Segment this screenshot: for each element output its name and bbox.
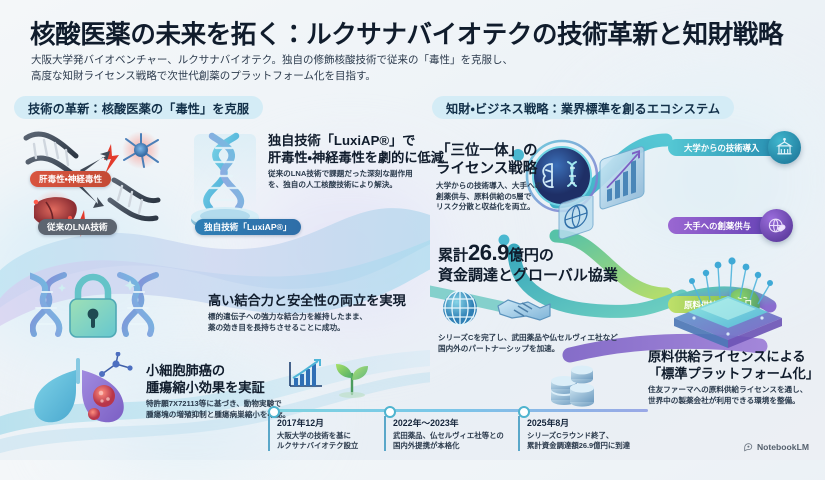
right-block-3-heading-line-2: 「標準プラットフォーム化」 (648, 365, 825, 382)
left-block-3-body-line-1: 特許願7X72113等に基づき、動物実験で (146, 399, 306, 410)
funding-heading-prefix: 累計 (438, 247, 468, 264)
left-block-2-body-line-1: 標的遺伝子への強力な結合力を維持したまま、 (208, 312, 423, 323)
timeline-desc-line-2: ルクサナバイオテク設立 (277, 441, 358, 451)
funding-amount: 26.9 (468, 240, 509, 265)
timeline-axis (268, 409, 648, 412)
ecosystem-node-materials[interactable]: 原料供給 (668, 288, 760, 321)
page-subtitle: 大阪大学発バイオベンチャー、ルクサナバイオテク。独自の修飾核酸技術で従来の「毒性… (31, 53, 591, 84)
seedling-icon (330, 358, 374, 398)
timeline-desc: シリーズCラウンド終了、 累計資金調達額26.9億円に到達 (527, 431, 630, 451)
globe-network-icon (438, 288, 488, 328)
right-block-1-body-line-1: 大学からの技術導入、大手への (436, 181, 554, 192)
left-block-1-heading-line-2: 肝毒性・神経毒性を劇的に低減 (268, 149, 438, 166)
left-panel-header: 技術の革新：核酸医薬の「毒性」を克服 (14, 96, 263, 119)
timeline-date: 2025年8月 (527, 416, 630, 429)
right-block-3-body: 住友ファーマへの原料供給ライセンスを通し、 世界中の製薬会社が利用できる環境を整… (648, 385, 825, 406)
timeline-desc-line-1: 武田薬品、仏セルヴィエ社等との (393, 431, 504, 441)
globe-pill-icon (760, 209, 793, 242)
left-block-1-body-line-1: 従来のLNA技術で課題だった深刻な副作用 (268, 169, 438, 180)
left-block-1-body: 従来のLNA技術で課題だった深刻な副作用 を、独自の人工核酸技術により解決。 (268, 169, 438, 190)
right-block-1-body-line-2: 創薬供与、原料供給の5層で (436, 192, 554, 203)
timeline-item-2025: 2025年8月 シリーズCラウンド終了、 累計資金調達額26.9億円に到達 (518, 416, 630, 451)
decorative-blob (0, 180, 220, 370)
toxicity-badge: 肝毒性・神経毒性 (30, 171, 111, 187)
left-block-2-heading: 高い結合力と安全性の両立を実現 (208, 292, 423, 309)
factory-icon (727, 288, 760, 321)
right-block-3-body-line-1: 住友ファーマへの原料供給ライセンスを通し、 (648, 385, 825, 396)
university-icon (768, 131, 801, 164)
infographic-canvas: 核酸医薬の未来を拓く：ルクサナバイオテクの技術革新と知財戦略 大阪大学発バイオベ… (0, 0, 825, 460)
footer-attribution: NotebookLM (743, 442, 809, 452)
right-block-1-heading-line-1: 「三位一体」の (436, 142, 554, 160)
right-block-2-heading-line-1: 累計26.9億円の (438, 243, 678, 266)
right-block-1-text: 「三位一体」の ライセンス戦略 大学からの技術導入、大手への 創薬供与、原料供給… (436, 142, 554, 213)
left-block-3-heading-line-1: 小細胞肺癌の (146, 362, 306, 379)
left-block-1-heading-line-1: 独自技術「LuxiAP®」で (268, 132, 438, 149)
footer-label: NotebookLM (757, 442, 809, 452)
ecosystem-node-materials-label: 原料供給 (668, 296, 730, 313)
subtitle-line-1: 大阪大学発バイオベンチャー、ルクサナバイオテク。独自の修飾核酸技術で従来の「毒性… (31, 53, 591, 69)
right-block-3-body-line-2: 世界中の製薬会社が利用できる環境を整備。 (648, 396, 825, 407)
left-block-2-body-line-2: 薬の効き目を長持ちさせることに成功。 (208, 323, 423, 334)
ecosystem-node-pharma-label: 大手への創薬供与 (668, 217, 763, 234)
left-block-2-body: 標的遺伝子への強力な結合力を維持したまま、 薬の効き目を長持ちさせることに成功。 (208, 312, 423, 333)
ecosystem-node-university[interactable]: 大学からの技術導入 (668, 131, 801, 164)
coin-stack-icon (548, 358, 600, 410)
page-title: 核酸医薬の未来を拓く：ルクサナバイオテクの技術革新と知財戦略 (30, 14, 800, 51)
ecosystem-node-pharma[interactable]: 大手への創薬供与 (668, 209, 793, 242)
right-block-3-heading-line-1: 原料供給ライセンスによる (648, 348, 825, 365)
luxiap-caption: 独自技術「LuxiAP®」 (195, 219, 301, 235)
timeline-item-2017: 2017年12月 大阪大学の技術を基に ルクサナバイオテク設立 (268, 416, 358, 451)
timeline-desc: 武田薬品、仏セルヴィエ社等との 国内外提携が本格化 (393, 431, 504, 451)
timeline-item-2022-2023: 2022年〜2023年 武田薬品、仏セルヴィエ社等との 国内外提携が本格化 (384, 416, 504, 451)
right-block-2-heading-line-2: 資金調達とグローバル協業 (438, 266, 678, 285)
timeline-desc-line-1: シリーズCラウンド終了、 (527, 431, 630, 441)
timeline-desc-line-2: 累計資金調達額26.9億円に到達 (527, 441, 630, 451)
right-block-2-text: 累計26.9億円の 資金調達とグローバル協業 (438, 243, 678, 285)
right-block-2-body-line-1: シリーズCを完了し、武田薬品や仏セルヴィエ社など (438, 333, 688, 344)
binding-safety-illustration (30, 272, 200, 344)
ecosystem-node-university-label: 大学からの技術導入 (668, 139, 771, 156)
data-panel-illustration (596, 128, 674, 224)
left-block-1-body-line-2: を、独自の人工核酸技術により解決。 (268, 180, 438, 191)
notebooklm-logo-icon (743, 442, 753, 452)
right-block-1-body: 大学からの技術導入、大手への 創薬供与、原料供給の5層で リスク分散と収益化を両… (436, 181, 554, 213)
left-block-3-heading-line-2: 腫瘍縮小効果を実証 (146, 379, 306, 396)
timeline-desc-line-2: 国内外提携が本格化 (393, 441, 504, 451)
left-block-1-text: 独自技術「LuxiAP®」で 肝毒性・神経毒性を劇的に低減 従来のLNA技術で課… (268, 132, 438, 190)
legacy-lna-caption: 従来のLNA技術 (38, 219, 117, 235)
right-panel-header: 知財・ビジネス戦略：業界標準を創るエコシステム (432, 96, 734, 119)
subtitle-line-2: 高度な知財ライセンス戦略で次世代創薬のプラットフォーム化を目指す。 (31, 69, 591, 85)
funding-heading-suffix: 億円の (509, 247, 554, 264)
right-block-1-heading-line-2: ライセンス戦略 (436, 160, 554, 178)
globe-panel-icon (556, 196, 600, 248)
lung-tumor-illustration (26, 352, 146, 430)
left-block-2-text: 高い結合力と安全性の両立を実現 標的遺伝子への強力な結合力を維持したまま、 薬の… (208, 292, 423, 333)
handshake-icon (494, 290, 554, 328)
timeline-date: 2017年12月 (277, 416, 358, 429)
right-block-3-text: 原料供給ライセンスによる 「標準プラットフォーム化」 住友ファーマへの原料供給ラ… (648, 348, 825, 406)
timeline-date: 2022年〜2023年 (393, 416, 504, 429)
right-block-1-body-line-3: リスク分散と収益化を両立。 (436, 202, 554, 213)
timeline-desc-line-1: 大阪大学の技術を基に (277, 431, 358, 441)
timeline-desc: 大阪大学の技術を基に ルクサナバイオテク設立 (277, 431, 358, 451)
